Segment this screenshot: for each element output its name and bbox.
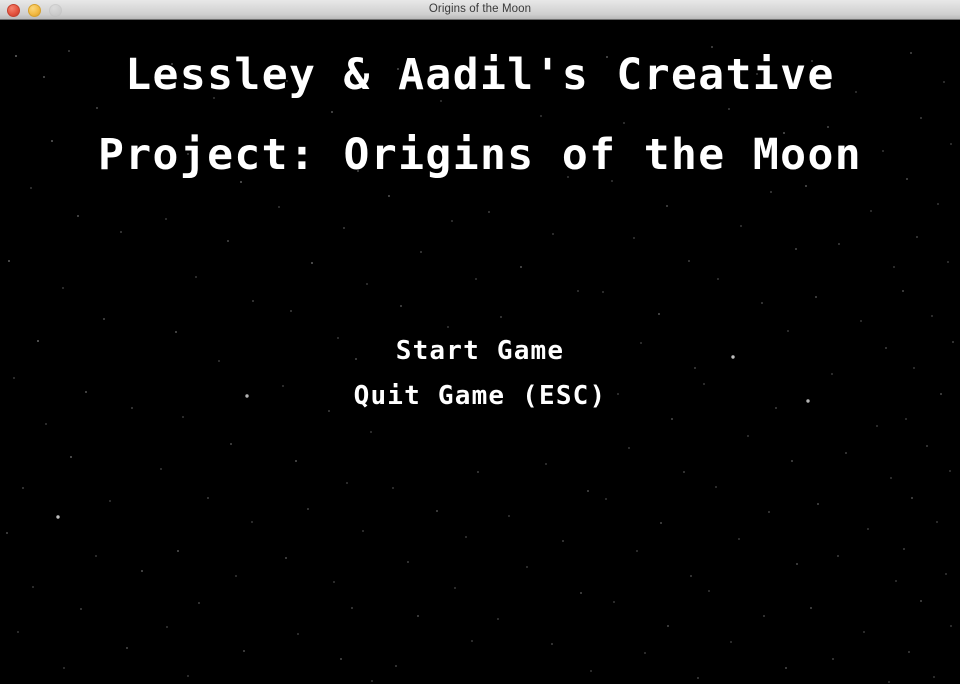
main-menu: Lessley & Aadil's Creative Project: Orig… [0, 20, 960, 684]
game-canvas: Lessley & Aadil's Creative Project: Orig… [0, 20, 960, 684]
window-controls [7, 4, 62, 17]
application-window: Origins of the Moon Lessley & Aadil's Cr… [0, 0, 960, 684]
window-titlebar: Origins of the Moon [0, 0, 960, 20]
zoom-button[interactable] [49, 4, 62, 17]
window-title: Origins of the Moon [0, 0, 960, 19]
minimize-button[interactable] [28, 4, 41, 17]
game-title-line-1: Lessley & Aadil's Creative [0, 50, 960, 100]
quit-game-button[interactable]: Quit Game (ESC) [0, 381, 960, 411]
game-title-line-2: Project: Origins of the Moon [0, 130, 960, 180]
close-button[interactable] [7, 4, 20, 17]
start-game-button[interactable]: Start Game [0, 336, 960, 366]
